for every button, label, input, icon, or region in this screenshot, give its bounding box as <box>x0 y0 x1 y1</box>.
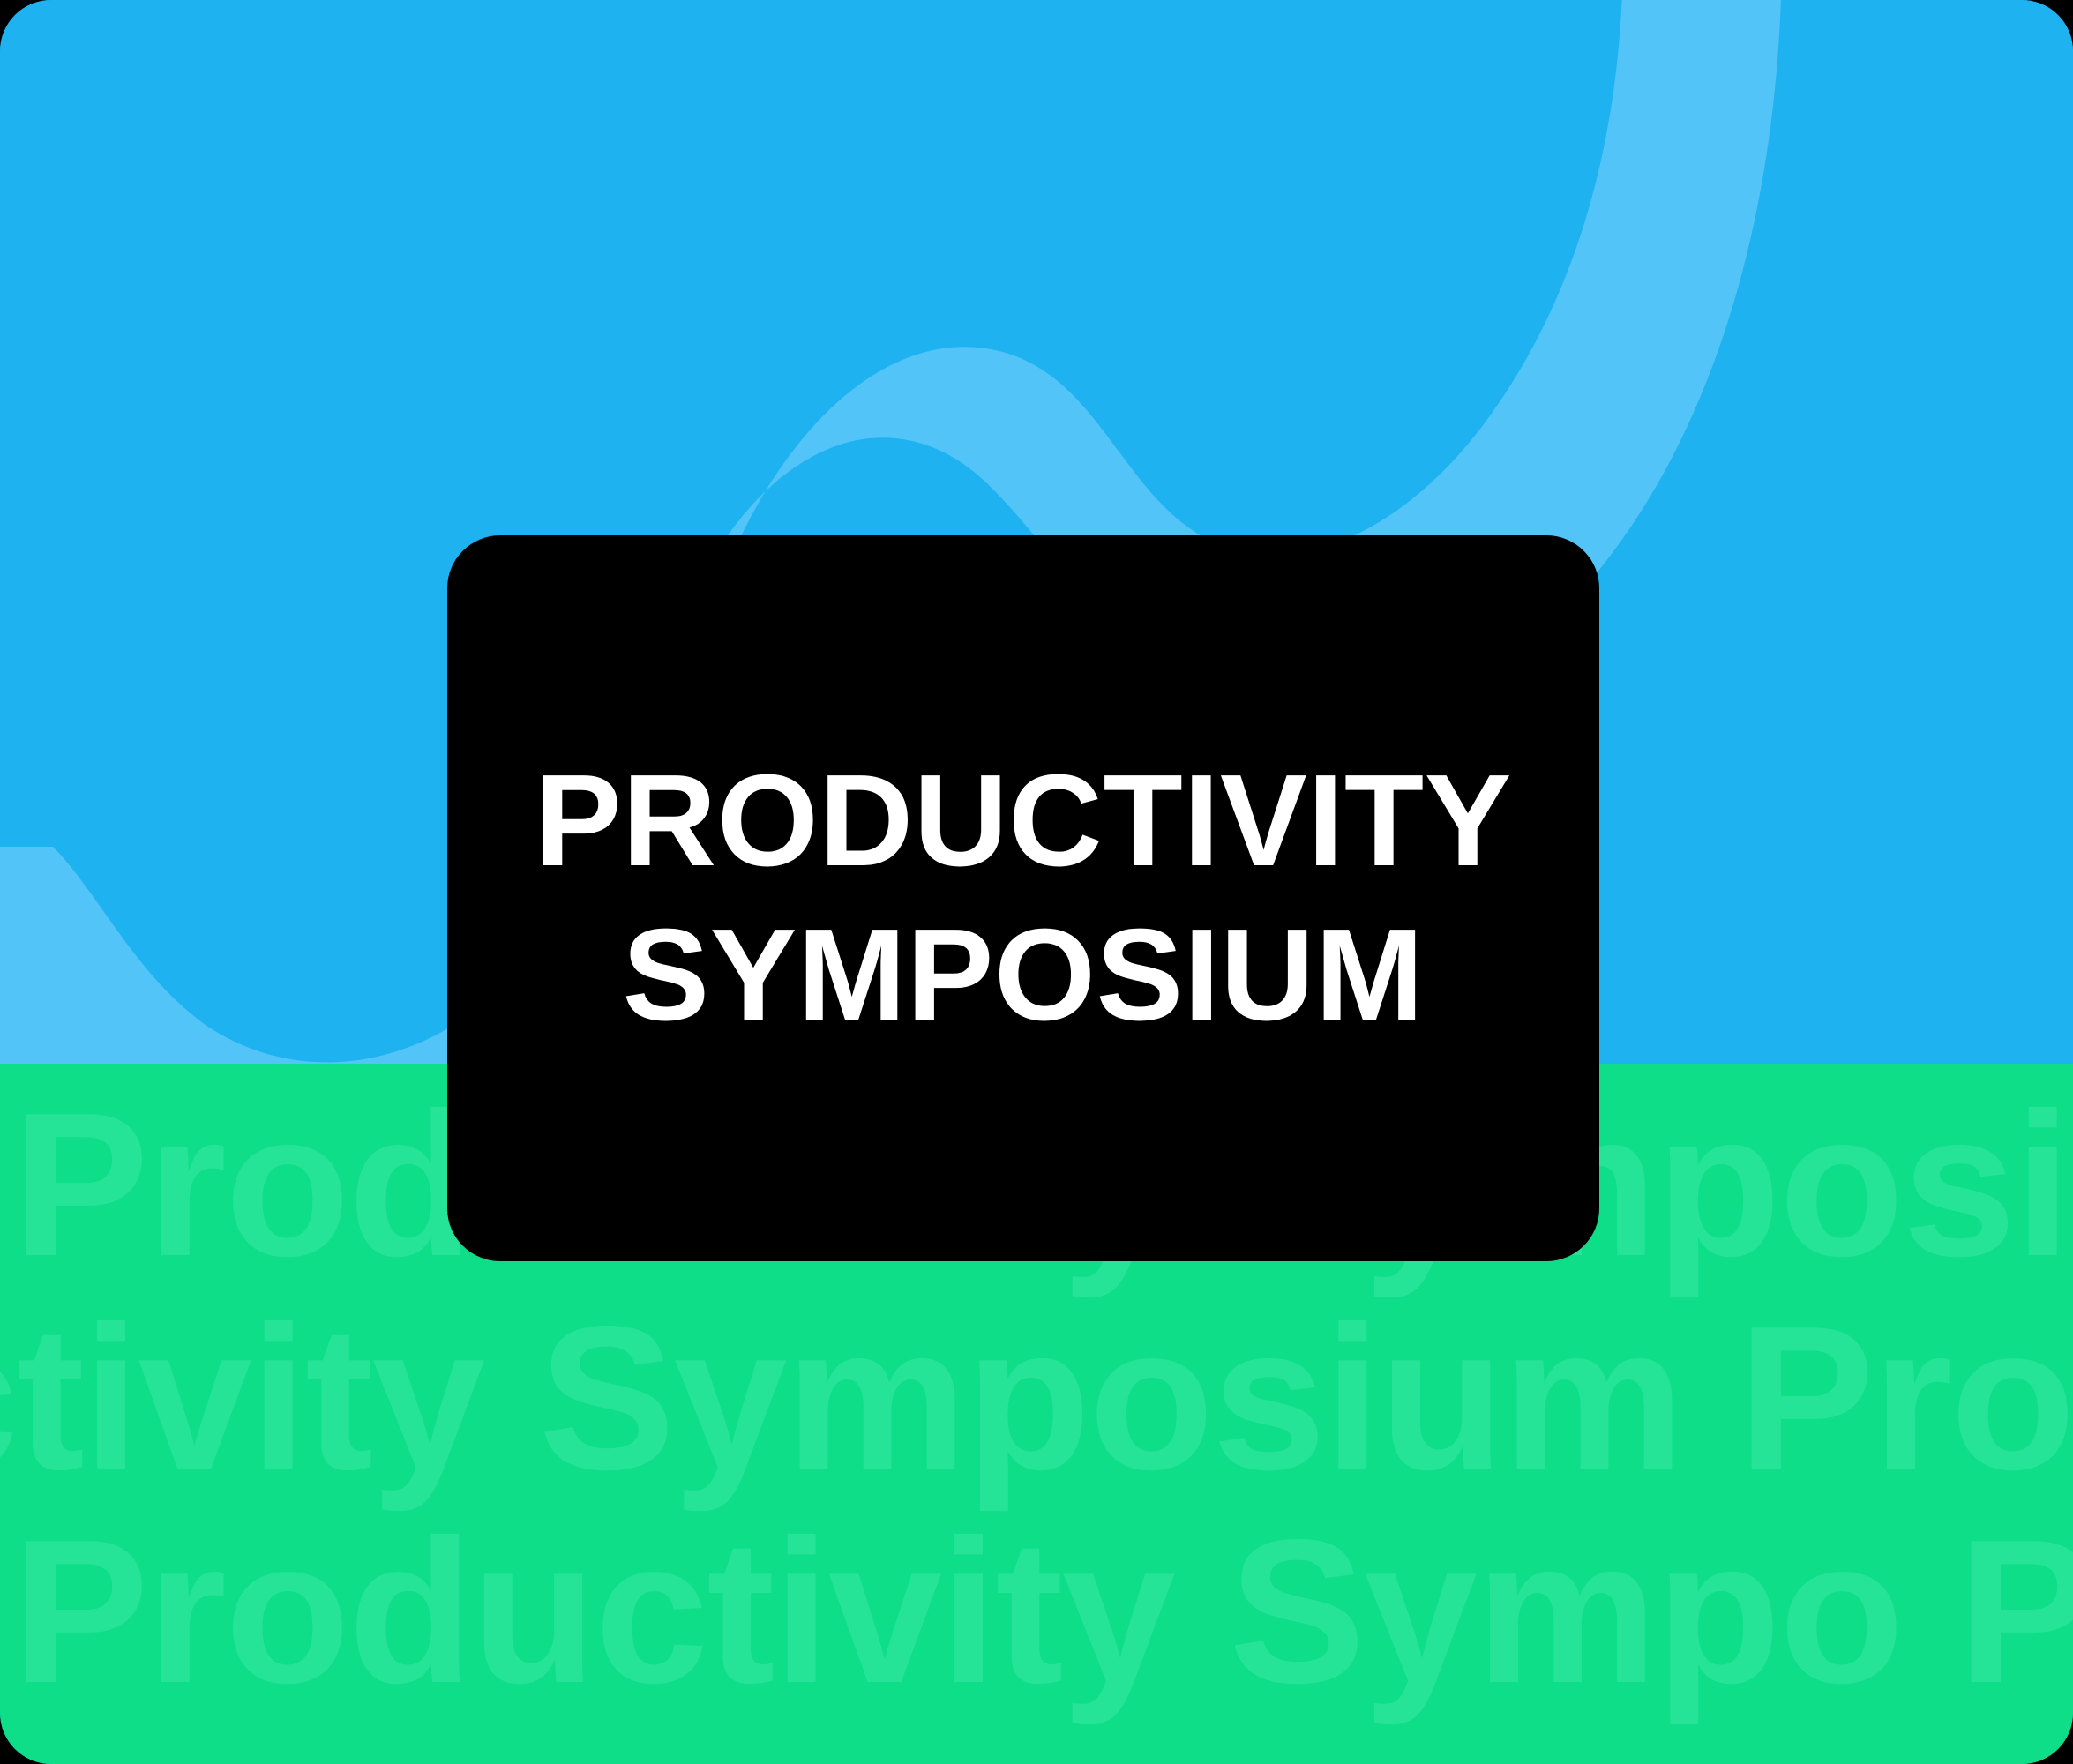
title-card: PRODUCTIVITY SYMPOSIUM <box>447 535 1599 1261</box>
title-line-primary: PRODUCTIVITY <box>535 744 1512 899</box>
watermark-row: Productivity Sympo Productivity Symposiu… <box>12 1510 2073 1715</box>
watermark-row: uctivity Symposium Productivity Symposiu… <box>0 1297 2073 1501</box>
poster-canvas: Productivity Symposium Productivity Symp… <box>0 0 2073 1764</box>
title-line-secondary: SYMPOSIUM <box>622 899 1424 1053</box>
